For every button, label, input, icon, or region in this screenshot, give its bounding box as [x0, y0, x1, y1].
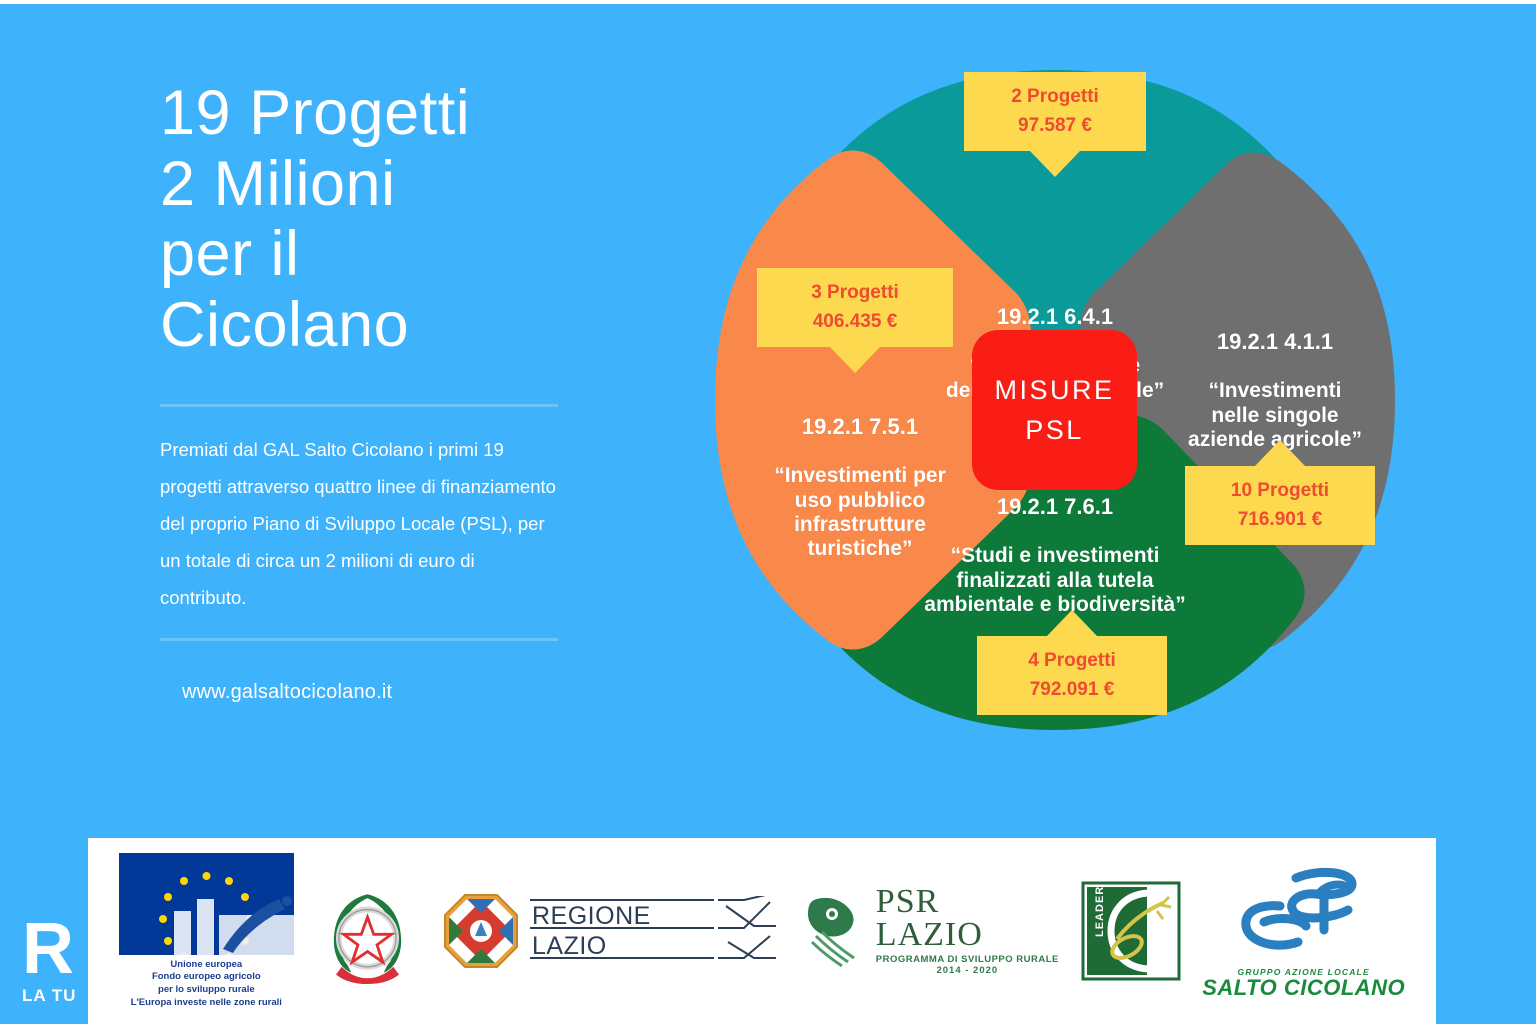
psr-lazio-subtitle: PROGRAMMA DI SVILUPPO RURALE: [876, 954, 1059, 965]
petal-code-right: 19.2.1 4.1.1: [1150, 329, 1400, 355]
callout-tail-top: [1030, 151, 1080, 177]
watermark-logo-text: R: [22, 917, 76, 982]
regione-lazio-logo: REGIONE LAZIO: [442, 892, 778, 970]
eu-flag-icon: [119, 853, 294, 955]
psr-lazio-region-shape-icon: [800, 892, 870, 970]
leader-label: LEADER: [1094, 886, 1106, 937]
petal-label-left: 19.2.1 7.5.1 “Investimenti per uso pubbl…: [725, 390, 995, 562]
center-line-2: PSL: [1025, 410, 1084, 451]
callout-tail-left: [830, 347, 880, 373]
regione-lazio-line2: LAZIO: [532, 932, 607, 960]
psr-lazio-logo: PSR LAZIO PROGRAMMA DI SVILUPPO RURALE 2…: [800, 886, 1059, 976]
psr-lazio-years: 2014 - 2020: [876, 965, 1059, 976]
gal-salto-cicolano-logo: GRUPPO AZIONE LOCALE SALTO CICOLANO: [1202, 864, 1405, 999]
petal-code-left: 19.2.1 7.5.1: [725, 414, 995, 440]
leader-emblem-icon: LEADER: [1081, 881, 1181, 981]
callout-top[interactable]: 2 Progetti 97.587 €: [964, 72, 1146, 151]
leader-logo: LEADER: [1081, 881, 1181, 981]
psr-lazio-line1: PSR: [876, 886, 1059, 918]
petal-title-left: “Investimenti per uso pubblico infrastru…: [774, 464, 946, 560]
eu-flag-logo: Unione europea Fondo europeo agricolo pe…: [119, 853, 294, 1009]
callout-projects-bottom: 4 Progetti: [991, 646, 1153, 675]
psr-lazio-line2: LAZIO: [876, 919, 1059, 951]
callout-amount-top: 97.587 €: [978, 111, 1132, 140]
page-title: 19 Progetti 2 Milioni per il Cicolano: [160, 78, 600, 360]
callout-amount-bottom: 792.091 €: [991, 675, 1153, 704]
infographic-poster: 19 Progetti 2 Milioni per il Cicolano Pr…: [0, 0, 1536, 1024]
watermark: R LA TU: [22, 917, 76, 1006]
divider-top: [160, 404, 558, 407]
regione-lazio-shield-icon: [442, 892, 520, 970]
callout-left[interactable]: 3 Progetti 406.435 €: [757, 268, 953, 347]
callout-tail-bottom: [1047, 610, 1097, 636]
top-white-strip: [0, 0, 1536, 4]
callout-projects-left: 3 Progetti: [771, 278, 939, 307]
body-paragraph: Premiati dal GAL Salto Cicolano i primi …: [160, 431, 560, 616]
regione-lazio-wordmark-icon: REGIONE LAZIO: [528, 896, 778, 966]
divider-bottom: [160, 638, 558, 641]
petal-label-right: 19.2.1 4.1.1 “Investimenti nelle singole…: [1150, 305, 1400, 452]
center-line-1: MISURE: [994, 370, 1114, 411]
eu-logo-caption: Unione europea Fondo europeo agricolo pe…: [131, 959, 282, 1009]
website-url[interactable]: www.galsaltocicolano.it: [182, 681, 600, 704]
watermark-tagline: LA TU: [22, 986, 76, 1006]
misure-psl-diagram: 19.2.1 6.4.1 “Diversificazione delle att…: [695, 50, 1415, 750]
italian-republic-emblem-icon: [315, 879, 420, 984]
regione-lazio-line1: REGIONE: [532, 902, 651, 930]
callout-projects-top: 2 Progetti: [978, 82, 1132, 111]
eu-wave-mark-icon: [119, 853, 294, 955]
gal-swirl-icon: [1224, 864, 1384, 969]
repubblica-italiana-emblem: [315, 879, 420, 984]
callout-tail-right: [1255, 440, 1305, 466]
gal-caption-big: SALTO CICOLANO: [1202, 977, 1405, 999]
center-misure-psl[interactable]: MISURE PSL: [972, 330, 1137, 490]
footer-logo-bar: Unione europea Fondo europeo agricolo pe…: [88, 838, 1436, 1024]
callout-amount-left: 406.435 €: [771, 307, 939, 336]
callout-bottom[interactable]: 4 Progetti 792.091 €: [977, 636, 1167, 715]
left-text-column: 19 Progetti 2 Milioni per il Cicolano Pr…: [160, 78, 600, 704]
